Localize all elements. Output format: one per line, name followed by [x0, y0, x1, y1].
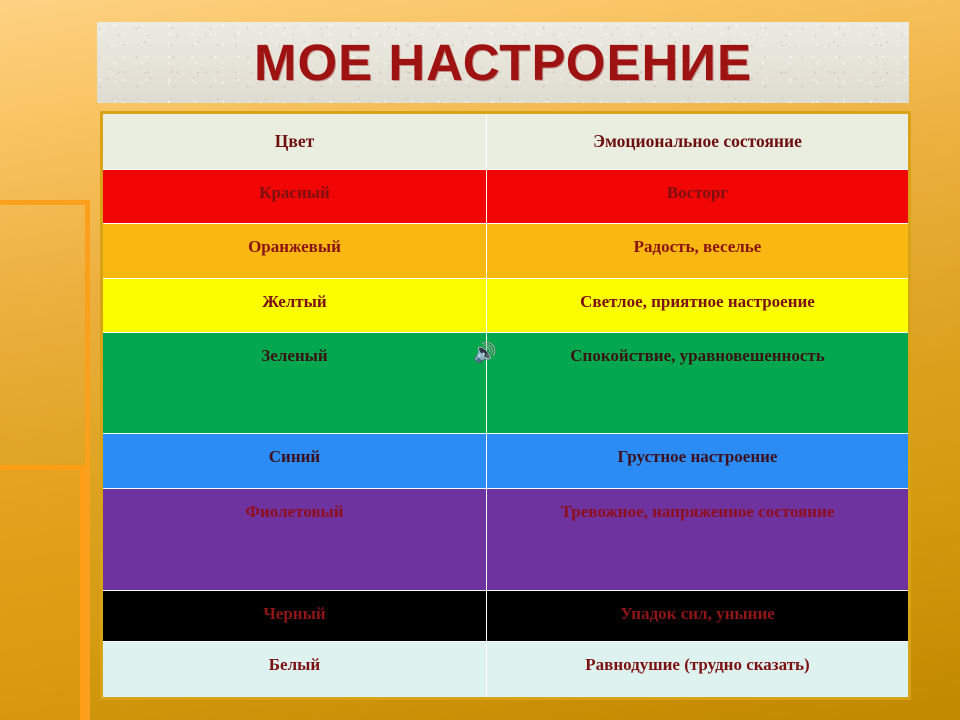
cell-color-name: Фиолетовый [102, 489, 487, 591]
column-header-color: Цвет [102, 113, 487, 170]
cell-emotion: Упадок сил, уныние [487, 591, 910, 642]
cell-emotion: Восторг [487, 170, 910, 224]
background-decoration-inner-rect [0, 465, 85, 720]
page-title: МОЕ НАСТРОЕНИЕ [254, 33, 752, 92]
cell-emotion: Светлое, приятное настроение [487, 279, 910, 333]
table-header-row: Цвет Эмоциональное состояние [102, 113, 910, 170]
table-row: ЖелтыйСветлое, приятное настроение [102, 279, 910, 333]
table-row: ЧерныйУпадок сил, уныние [102, 591, 910, 642]
cell-emotion: Тревожное, напряженное состояние [487, 489, 910, 591]
cell-color-name: Зеленый🔊 [102, 333, 487, 434]
cell-color-name: Оранжевый [102, 224, 487, 279]
cell-color-name: Красный [102, 170, 487, 224]
table-row: ФиолетовыйТревожное, напряженное состоян… [102, 489, 910, 591]
table-row: Зеленый🔊Спокойствие, уравновешенность [102, 333, 910, 434]
table-row: БелыйРавнодушие (трудно сказать) [102, 642, 910, 699]
cell-emotion: Спокойствие, уравновешенность [487, 333, 910, 434]
title-banner: МОЕ НАСТРОЕНИЕ [97, 22, 909, 103]
column-header-emotion: Эмоциональное состояние [487, 113, 910, 170]
cell-color-name: Синий [102, 434, 487, 489]
slide-canvas: МОЕ НАСТРОЕНИЕ Цвет Эмоциональное состоя… [0, 0, 960, 720]
speaker-icon[interactable]: 🔊 [472, 343, 498, 365]
cell-emotion: Радость, веселье [487, 224, 910, 279]
mood-table-body: Цвет Эмоциональное состояние КрасныйВост… [102, 113, 910, 699]
table-row: КрасныйВосторг [102, 170, 910, 224]
cell-color-name: Белый [102, 642, 487, 699]
cell-color-name: Желтый [102, 279, 487, 333]
table-row: СинийГрустное настроение [102, 434, 910, 489]
cell-emotion: Грустное настроение [487, 434, 910, 489]
mood-table: Цвет Эмоциональное состояние КрасныйВост… [100, 111, 911, 700]
cell-color-name: Черный [102, 591, 487, 642]
table-row: ОранжевыйРадость, веселье [102, 224, 910, 279]
cell-emotion: Равнодушие (трудно сказать) [487, 642, 910, 699]
